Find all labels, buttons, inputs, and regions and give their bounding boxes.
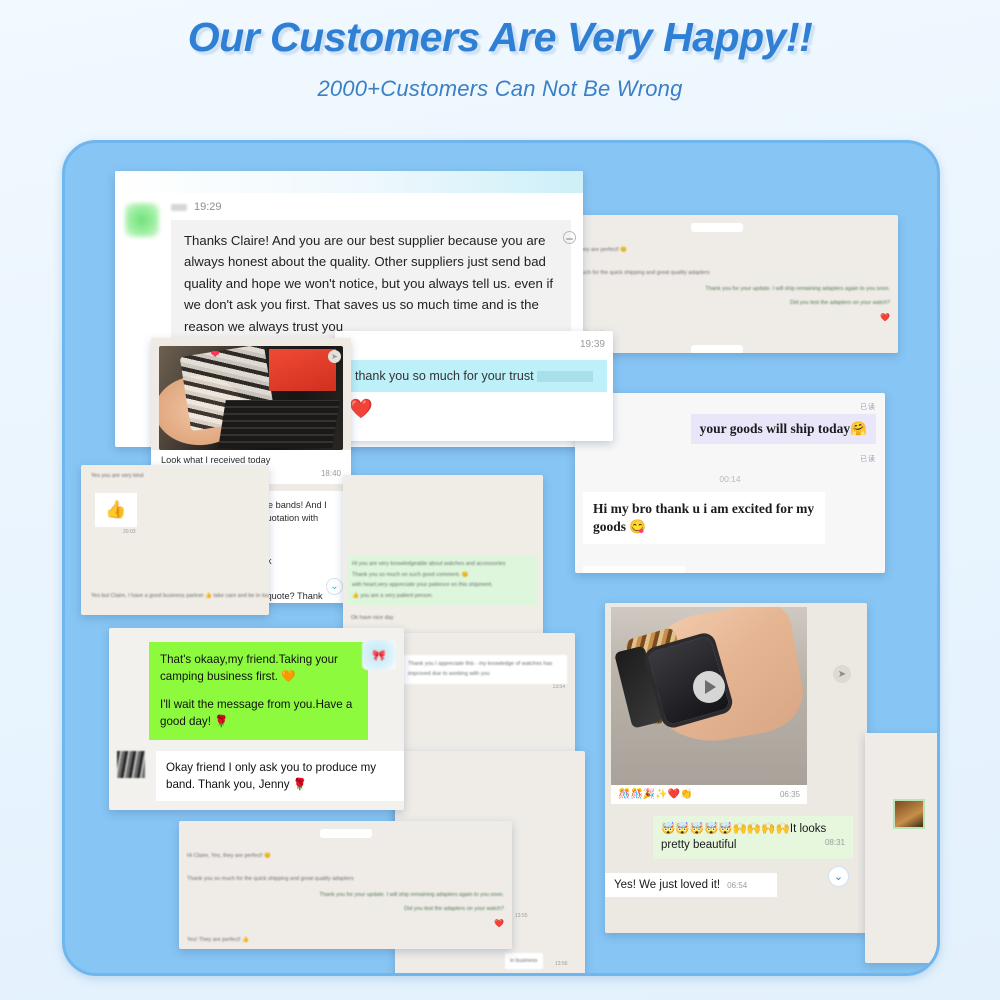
- screenshot-card-trust[interactable]: 19:39 thank you so much for your trust ❤…: [335, 331, 613, 441]
- video-timestamp: 06:35: [780, 790, 800, 799]
- card-top-strip: [115, 171, 583, 193]
- timestamp: 13:54: [395, 684, 575, 690]
- reply-row: Okay friend I only ask you to produce my…: [117, 751, 404, 802]
- sent-bubble-camping: That's okaay,my friend.Taking your campi…: [149, 642, 368, 740]
- screenshot-card-video[interactable]: 🎊🎊🎉✨❤️👏 06:35 ➤ 🤯🤯🤯🤯🤯🙌🙌🙌🙌It looks pretty…: [605, 603, 867, 933]
- chat-line: in business: [505, 953, 543, 969]
- video-caption-row: 🎊🎊🎉✨❤️👏 06:35: [611, 785, 807, 804]
- chat-line: Thank you so much on such good comment. …: [352, 570, 532, 580]
- trust-bubble: thank you so much for your trust: [345, 360, 607, 392]
- chat-line: Did you test the adapters on your watch?: [187, 904, 504, 914]
- page-subtitle: 2000+Customers Can Not Be Wrong: [0, 76, 1000, 102]
- message-text: Thanks Claire! And you are our best supp…: [184, 233, 553, 334]
- chat-line: Thank you for your update. I will ship r…: [187, 890, 504, 900]
- knowledgeable-footer: Ok have nice day: [351, 613, 394, 623]
- photo-timestamp: 18:40: [321, 469, 341, 478]
- photo-heart-icon: ❤: [211, 348, 220, 361]
- read-receipt-2: 已读: [860, 456, 876, 463]
- trust-timestamp: 19:39: [580, 339, 605, 350]
- praise-timestamp: 08:31: [825, 838, 845, 849]
- timestamp: 13:55: [515, 913, 528, 919]
- camping-text-2: I'll wait the message from you.Have a go…: [160, 696, 357, 731]
- video-thumbnail[interactable]: [611, 607, 807, 785]
- photo-laptop: [218, 400, 340, 448]
- date-chip: [320, 829, 372, 838]
- loved-timestamp: 06:54: [727, 881, 747, 890]
- forward-icon[interactable]: ➤: [328, 350, 341, 363]
- received-bubble-1: Hi my bro thank u i am excited for my go…: [583, 492, 825, 544]
- sent-bubble-praise: 🤯🤯🤯🤯🤯🙌🙌🙌🙌It looks pretty beautiful 08:31: [653, 816, 853, 859]
- chat-line: Yes! They are perfect! 👍: [187, 928, 504, 946]
- read-status-row: 已读: [575, 393, 885, 414]
- thumbs-up-icon: 👍: [105, 500, 126, 520]
- thumbs-top-text: Yes you are very kind: [91, 471, 269, 481]
- sent-text: your goods will ship today: [700, 421, 851, 436]
- heart-reaction-icon: ❤️: [187, 919, 504, 928]
- sender-row: 19:29: [171, 199, 571, 215]
- screenshot-card-adapters-2[interactable]: Hi Claire, Yes, they are perfect! 😊 Than…: [179, 821, 512, 949]
- thumbnail-image[interactable]: [893, 799, 925, 829]
- sender-name: [171, 204, 187, 211]
- date-chip-2: [691, 345, 743, 353]
- camping-text-1: That's okaay,my friend.Taking your campi…: [160, 651, 357, 686]
- screenshot-card-knowledgeable[interactable]: Hi you are very knowledgeable about watc…: [343, 475, 543, 635]
- loved-text: Yes! We just loved it!: [614, 879, 720, 891]
- page-header: Our Customers Are Very Happy!! 2000+Cust…: [0, 0, 1000, 102]
- chat-line: Hi Claire, Yes, they are perfect! 😊: [543, 238, 890, 256]
- read-receipt: 已读: [860, 404, 876, 411]
- date-chip: [691, 223, 743, 232]
- received-bubble-2: Thank u: [583, 566, 685, 573]
- chat-line: Thank you for your update. I will ship r…: [543, 284, 890, 294]
- received-photo[interactable]: ❤: [159, 346, 343, 450]
- avatar: [125, 203, 159, 237]
- trust-text: thank you so much for your trust: [355, 369, 534, 383]
- adapters-chat-2: Hi Claire, Yes, they are perfect! 😊 Than…: [179, 821, 512, 949]
- collage-stage: Hi Claire, Yes, they are perfect! 😊 Than…: [65, 143, 937, 973]
- received-bubble-loved: Yes! We just loved it! 06:54: [605, 873, 777, 897]
- hug-emoji-icon: 🤗: [850, 421, 867, 436]
- heart-reaction-icon: ❤️: [349, 397, 613, 421]
- chat-line: with heart,very appreciate your patience…: [352, 580, 532, 590]
- scroll-down-icon[interactable]: ⌄: [828, 866, 849, 887]
- thumbs-up-sticker: 👍: [95, 493, 137, 527]
- read-status-row-2: 已读: [575, 444, 885, 466]
- testimonial-collage-frame: Hi Claire, Yes, they are perfect! 😊 Than…: [62, 140, 940, 976]
- screenshot-card-camping[interactable]: That's okaay,my friend.Taking your campi…: [109, 628, 404, 810]
- avatar: [117, 751, 145, 778]
- trust-time-row: 19:39: [335, 331, 613, 352]
- chat-line: Thank you I appreciate this - my knowled…: [403, 655, 567, 684]
- emoji-picker-icon[interactable]: [563, 231, 576, 244]
- chat-line: Thank you so much for the quick shipping…: [187, 867, 504, 885]
- received-text-1: Hi my bro thank u i am excited for my go…: [593, 501, 814, 534]
- yum-emoji-icon: 😋: [629, 519, 646, 534]
- praise-text: 🤯🤯🤯🤯🤯🙌🙌🙌🙌It looks pretty beautiful: [661, 823, 826, 851]
- chat-line: Hi you are very knowledgeable about watc…: [352, 559, 532, 569]
- sent-bubble: your goods will ship today🤗: [691, 414, 876, 444]
- scroll-down-icon[interactable]: ⌄: [326, 578, 343, 595]
- chat-line: Thank you so much for the quick shipping…: [543, 261, 890, 279]
- chat-line: Hi Claire, Yes, they are perfect! 😊: [187, 844, 504, 862]
- timestamp: 13:56: [555, 961, 568, 967]
- screenshot-card-slim-right[interactable]: ✓✓ ✓✓: [865, 733, 937, 963]
- thumbs-bottom-text: Yes but Claire, I have a good business p…: [91, 591, 269, 601]
- emoji-reactions: 🎊🎊🎉✨❤️👏: [618, 789, 693, 800]
- received-bubble-camping: Okay friend I only ask you to produce my…: [156, 751, 404, 802]
- heart-reaction-icon: ❤️: [543, 313, 890, 322]
- sticker-icon: 🎀: [362, 640, 396, 670]
- screenshot-card-thumbs-up[interactable]: Yes you are very kind 👍 20:03 Yes but Cl…: [81, 465, 269, 615]
- chat-line: 👍 you are a very patient person.: [352, 591, 532, 601]
- play-icon[interactable]: [693, 671, 725, 703]
- chat-line: Did you test the adapters on your watch?: [543, 298, 890, 308]
- forward-icon[interactable]: ➤: [833, 665, 851, 683]
- screenshot-card-goods-shipping[interactable]: 已读 your goods will ship today🤗 已读 00:14 …: [575, 393, 885, 573]
- thumbs-timestamp: 20:03: [123, 529, 269, 535]
- knowledgeable-green-block: Hi you are very knowledgeable about watc…: [347, 555, 537, 605]
- page-title: Our Customers Are Very Happy!!: [0, 14, 1000, 61]
- chat-time-divider: 00:14: [575, 466, 885, 484]
- message-timestamp: 19:29: [194, 201, 222, 213]
- redacted-block: [537, 371, 593, 382]
